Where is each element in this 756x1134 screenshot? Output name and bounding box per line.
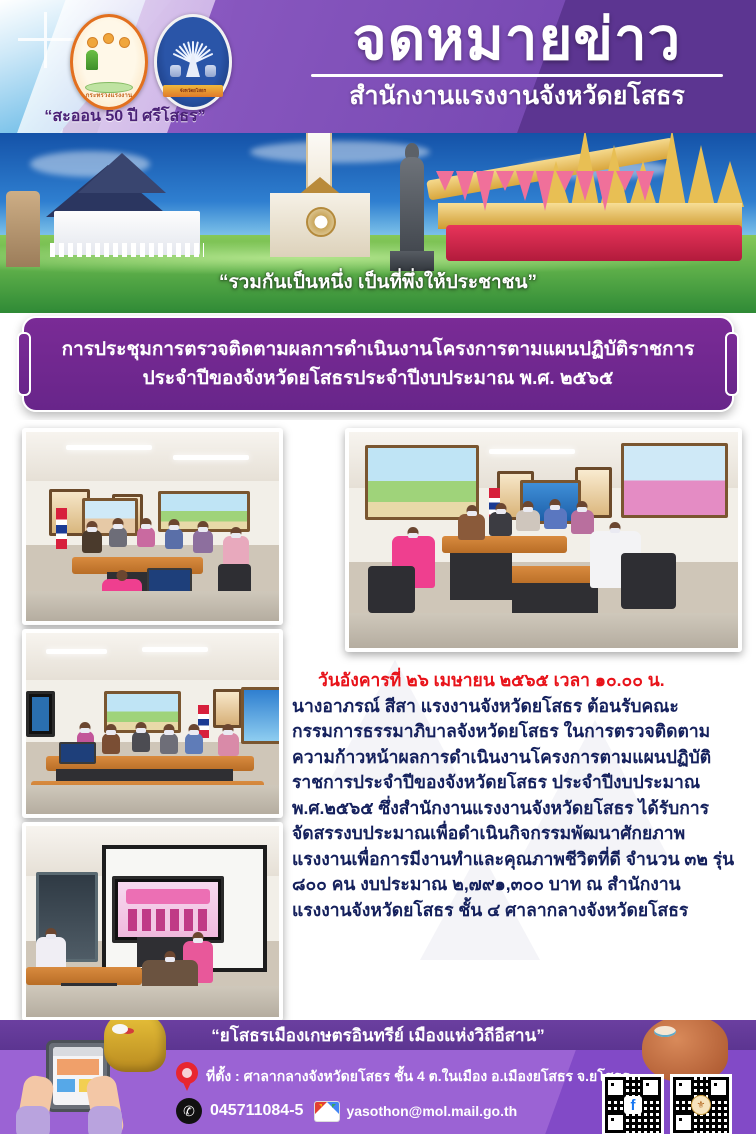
province-backdrop-banner <box>365 445 480 520</box>
province-backdrop-banner <box>621 443 728 518</box>
province-seal-caption: จังหวัดยโสธร <box>163 85 223 97</box>
office-address: ที่ตั้ง : ศาลากลางจังหวัดยโสธร ชั้น 4 ต.… <box>206 1066 629 1088</box>
lion-right-icon <box>205 65 216 77</box>
ceiling-light <box>66 445 152 450</box>
ceiling-light <box>142 647 208 652</box>
stage-backdrop <box>241 687 282 744</box>
meeting-room-scene <box>26 633 279 814</box>
golden-royal-barge-float <box>418 133 748 269</box>
ministry-of-labour-emblem: กระทรวงแรงงาน <box>70 14 148 110</box>
barge-tassels <box>436 171 656 215</box>
slide-content <box>118 882 218 937</box>
screen-block <box>57 1079 75 1092</box>
title-plaque-wrapper: การประชุมการตรวจติดตามผลการดำเนินงานโครง… <box>22 316 734 412</box>
gmail-icon <box>315 1102 339 1121</box>
attendee <box>516 510 539 532</box>
thai-flag <box>56 508 67 550</box>
barge-spire <box>658 133 686 207</box>
display-screen <box>26 691 55 737</box>
phra-that-prang-landmark <box>262 133 382 267</box>
article-lead: วันอังคารที่ ๒๖ เมษายน ๒๕๖๕ เวลา ๑๐.๐๐ น… <box>292 668 740 694</box>
floor <box>26 785 279 814</box>
masthead: จดหมายข่าว สำนักงานแรงงานจังหวัดยโสธร <box>302 8 732 111</box>
ancient-stupa-landmark <box>6 191 40 267</box>
phone-number[interactable]: 045711084-5 <box>210 1102 303 1120</box>
yasothon-province-seal: จังหวัดยโสธร <box>154 14 232 110</box>
province-emblem-icon: ⚜ <box>691 1095 711 1115</box>
barge-tassel <box>636 171 654 201</box>
article-body: วันอังคารที่ ๒๖ เมษายน ๒๕๖๕ เวลา ๑๐.๐๐ น… <box>292 668 740 923</box>
attendee <box>193 530 213 553</box>
office-chair <box>621 553 675 609</box>
phra-that-tower-icon <box>186 51 200 77</box>
landmark-banner: “รวมกันเป็นหนึ่ง เป็นที่พึ่งให้ประชาชน” <box>0 133 756 313</box>
attendee <box>185 733 203 755</box>
meeting-room-scene <box>349 432 738 648</box>
barge-tassel <box>576 171 594 201</box>
golden-naga-icon <box>104 1020 166 1072</box>
attendee <box>223 536 248 566</box>
attendee <box>102 733 120 755</box>
attendee <box>160 733 178 755</box>
presentation-display <box>112 876 224 943</box>
pavilion-upper-roof <box>78 153 166 193</box>
barge-tassel <box>596 171 614 211</box>
attendee <box>458 514 485 540</box>
masthead-divider <box>311 74 724 77</box>
qr-matrix: ⚜ <box>673 1077 729 1133</box>
qr-finder <box>673 1077 694 1098</box>
barge-spire <box>687 145 715 207</box>
attendee <box>109 527 127 548</box>
floor <box>349 613 738 648</box>
lion-left-icon <box>170 65 181 77</box>
laptop <box>59 742 96 764</box>
meeting-room-scene <box>26 432 279 621</box>
plaque-line-1: การประชุมการตรวจติดตามผลการดำเนินงานโครง… <box>62 335 695 364</box>
dharma-wheel-icon <box>306 207 336 237</box>
framed-portrait <box>213 689 242 728</box>
table-base <box>450 553 512 601</box>
contact-row: ✆ 045711084-5 yasothon@mol.mail.go.th <box>176 1098 596 1124</box>
attendee <box>82 530 102 553</box>
photo-meeting-room-wide <box>22 428 283 625</box>
qr-finder <box>640 1077 661 1098</box>
sleeve-right <box>88 1106 122 1134</box>
content-area: วันอังคารที่ ๒๖ เมษายน ๒๕๖๕ เวลา ๑๐.๐๐ น… <box>0 420 756 1020</box>
photo-meeting-front-row <box>22 629 283 818</box>
table-base <box>56 769 233 782</box>
screen-topbar <box>53 1047 103 1056</box>
office-name: สำนักงานแรงงานจังหวัดยโสธร <box>302 81 732 111</box>
qr-finder <box>605 1112 626 1133</box>
ministry-emblem-caption: กระทรวงแรงงาน <box>73 90 145 100</box>
article-paragraph: นางอาภรณ์ สีสา แรงงานจังหวัดยโสธร ต้อนรั… <box>292 696 734 920</box>
white-thai-pavilion-landmark <box>36 145 216 265</box>
facebook-logo-icon: f <box>624 1096 642 1114</box>
barge-tassel <box>516 171 534 201</box>
screen-image <box>57 1059 99 1075</box>
page-header: กระทรวงแรงงาน จังหวัดยโสธร “สะออน 50 ปี … <box>0 0 756 133</box>
ceiling-light <box>489 449 575 454</box>
header-tagline: “สะออน 50 ปี ศรีโสธร” <box>0 104 250 129</box>
barge-tassel <box>456 171 474 201</box>
newsletter-page: กระทรวงแรงงาน จังหวัดยโสธร “สะออน 50 ปี … <box>0 0 756 1134</box>
barge-tassel <box>496 171 514 191</box>
email-address[interactable]: yasothon@mol.mail.go.th <box>346 1103 517 1119</box>
floor <box>26 986 279 1017</box>
qr-finder <box>673 1112 694 1133</box>
page-footer: “ยโสธรเมืองเกษตรอินทรีย์ เมืองแห่งวิถีอี… <box>0 1020 756 1134</box>
attendee <box>571 510 594 534</box>
attendee <box>489 512 512 536</box>
photo-presentation-screen <box>22 822 283 1021</box>
screen-content <box>32 697 49 731</box>
attendee <box>132 731 150 753</box>
meeting-room-scene <box>26 826 279 1017</box>
ceiling-light <box>173 455 249 460</box>
title-plaque: การประชุมการตรวจติดตามผลการดำเนินงานโครง… <box>22 316 734 412</box>
location-pin-icon <box>176 1062 198 1092</box>
office-chair <box>368 566 415 614</box>
ceiling <box>26 633 279 680</box>
barge-tassel <box>436 171 454 191</box>
plaque-line-2: ประจำปีของจังหวัดยโสธรประจำปีงบประมาณ พ.… <box>143 364 614 393</box>
qr-province-emblem[interactable]: ⚜ <box>670 1074 732 1134</box>
barge-tassel <box>476 171 494 211</box>
sleeve-left <box>16 1106 50 1134</box>
slide-title-bar <box>126 889 210 903</box>
phaya-khan-khak-toad-icon <box>642 1020 728 1082</box>
phone-icon: ✆ <box>176 1098 202 1124</box>
banner-slogan: “รวมกันเป็นหนึ่ง เป็นที่พึ่งให้ประชาชน” <box>0 267 756 297</box>
attendee <box>165 528 183 549</box>
ceiling-light <box>46 649 107 654</box>
footer-slogan: “ยโสธรเมืองเกษตรอินทรีย์ เมืองแห่งวิถีอี… <box>211 1022 544 1049</box>
attendee <box>544 508 567 530</box>
deity-figures-icon <box>86 38 132 78</box>
footer-contact-block: ที่ตั้ง : ศาลากลางจังหวัดยโสธร ชั้น 4 ต.… <box>176 1062 596 1130</box>
floor <box>26 591 279 621</box>
barge-hull <box>446 225 742 261</box>
qr-facebook[interactable]: f <box>602 1074 664 1134</box>
qr-matrix: f <box>605 1077 661 1133</box>
pavilion-railing <box>50 243 204 257</box>
barge-tassel <box>536 171 554 211</box>
attendee <box>137 527 155 548</box>
barge-spire <box>716 161 744 207</box>
slide-photo-grid <box>128 909 208 931</box>
qr-finder <box>605 1077 626 1098</box>
photo-meeting-table-officials <box>345 428 742 652</box>
qr-finder <box>708 1077 729 1098</box>
barge-tassel <box>556 171 574 191</box>
seal-banner-band: จังหวัดยโสธร <box>163 85 223 97</box>
attendee <box>218 733 238 757</box>
newsletter-title: จดหมายข่าว <box>302 8 732 72</box>
barge-tassel <box>616 171 634 191</box>
address-row: ที่ตั้ง : ศาลากลางจังหวัดยโสธร ชั้น 4 ต.… <box>176 1062 596 1092</box>
